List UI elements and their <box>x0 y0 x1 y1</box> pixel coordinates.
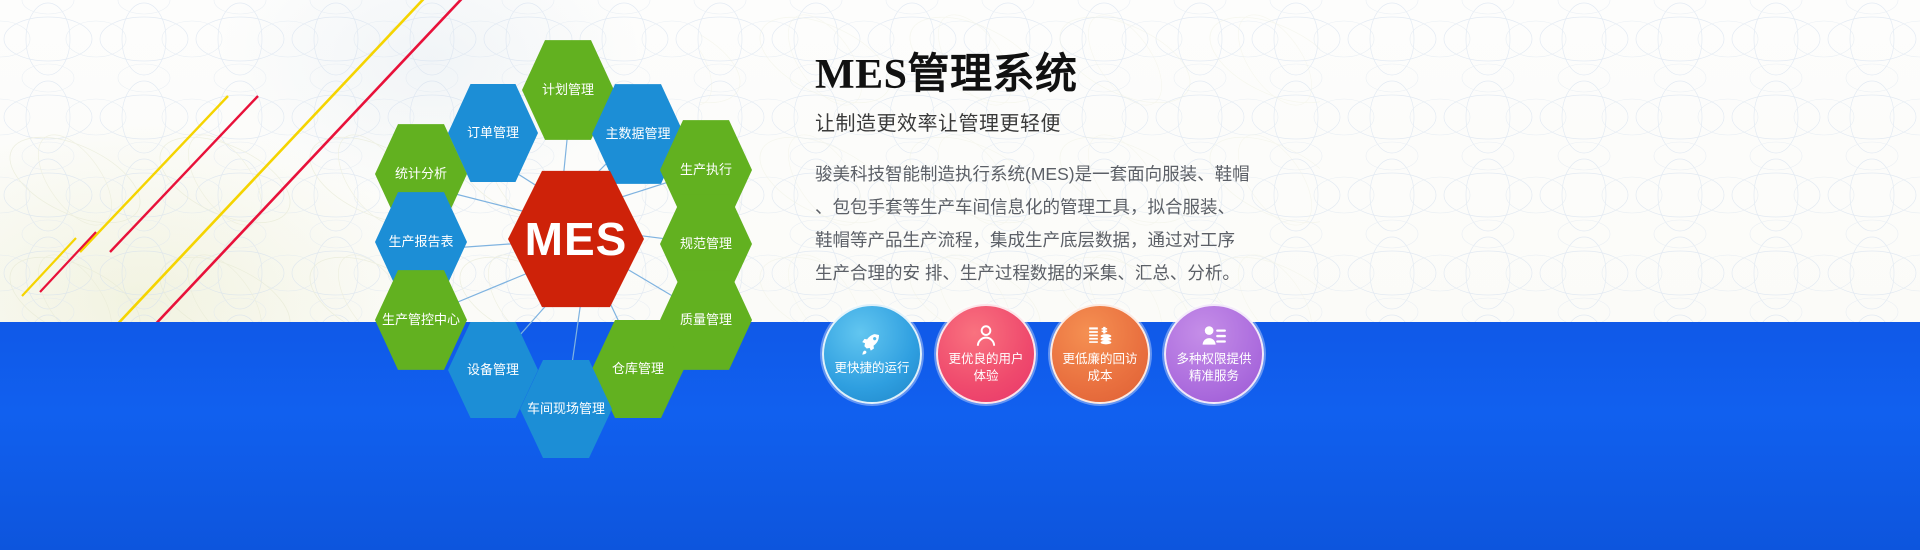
description-line: 、包包手套等生产车间信息化的管理工具，拟合服装、 <box>815 191 1285 224</box>
user-list-icon <box>1201 323 1227 349</box>
hex-node-label: 生产报告表 <box>382 234 459 249</box>
description-line: 骏美科技智能制造执行系统(MES)是一套面向服装、鞋帽 <box>815 158 1285 191</box>
hex-node-label: 车间现场管理 <box>521 401 611 416</box>
page-subtitle: 让制造更效率让管理更轻便 <box>815 107 1285 136</box>
feature-badge-label: 更快捷的运行 <box>828 360 915 377</box>
description-paragraph: 骏美科技智能制造执行系统(MES)是一套面向服装、鞋帽、包包手套等生产车间信息化… <box>815 158 1285 290</box>
description-line: 生产合理的安 排、生产过程数据的采集、汇总、分析。 <box>815 257 1285 290</box>
hex-node-label: 统计分析 <box>389 166 453 181</box>
hex-node-label: 设备管理 <box>461 362 525 377</box>
feature-badge-label: 多种权限提供精准服务 <box>1166 351 1262 385</box>
mes-hexagon-diagram: 计划管理订单管理主数据管理统计分析生产执行生产报告表规范管理生产管控中心质量管理… <box>300 10 820 430</box>
hex-node-label: 订单管理 <box>461 125 525 140</box>
banner-stage: 计划管理订单管理主数据管理统计分析生产执行生产报告表规范管理生产管控中心质量管理… <box>0 0 1920 550</box>
rocket-icon <box>859 332 885 358</box>
page-title: MES管理系统 <box>815 52 1285 98</box>
hex-node-label: 质量管理 <box>674 312 738 327</box>
user-icon <box>973 323 999 349</box>
description-line: 鞋帽等产品生产流程，集成生产底层数据，通过对工序 <box>815 224 1285 257</box>
hex-node-label: 主数据管理 <box>599 126 676 141</box>
feature-badge[interactable]: 更优良的用户体验 <box>936 304 1036 404</box>
hex-node-label: 规范管理 <box>674 236 738 251</box>
hex-node-label: 仓库管理 <box>606 361 670 376</box>
feature-badge-list: 更快捷的运行更优良的用户体验更低廉的回访成本多种权限提供精准服务 <box>822 304 1282 414</box>
hex-node-label: 生产管控中心 <box>376 312 466 327</box>
hex-node-label: 生产执行 <box>674 162 738 177</box>
feature-badge-label: 更低廉的回访成本 <box>1052 351 1148 385</box>
money-coins-icon <box>1087 323 1113 349</box>
feature-badge-label: 更优良的用户体验 <box>938 351 1034 385</box>
feature-badge[interactable]: 更低廉的回访成本 <box>1050 304 1150 404</box>
feature-badge[interactable]: 多种权限提供精准服务 <box>1164 304 1264 404</box>
feature-badge[interactable]: 更快捷的运行 <box>822 304 922 404</box>
hex-node-center-label: MES <box>519 212 634 266</box>
hex-node-label: 计划管理 <box>536 82 600 97</box>
text-panel: MES管理系统 让制造更效率让管理更轻便 骏美科技智能制造执行系统(MES)是一… <box>815 52 1285 290</box>
